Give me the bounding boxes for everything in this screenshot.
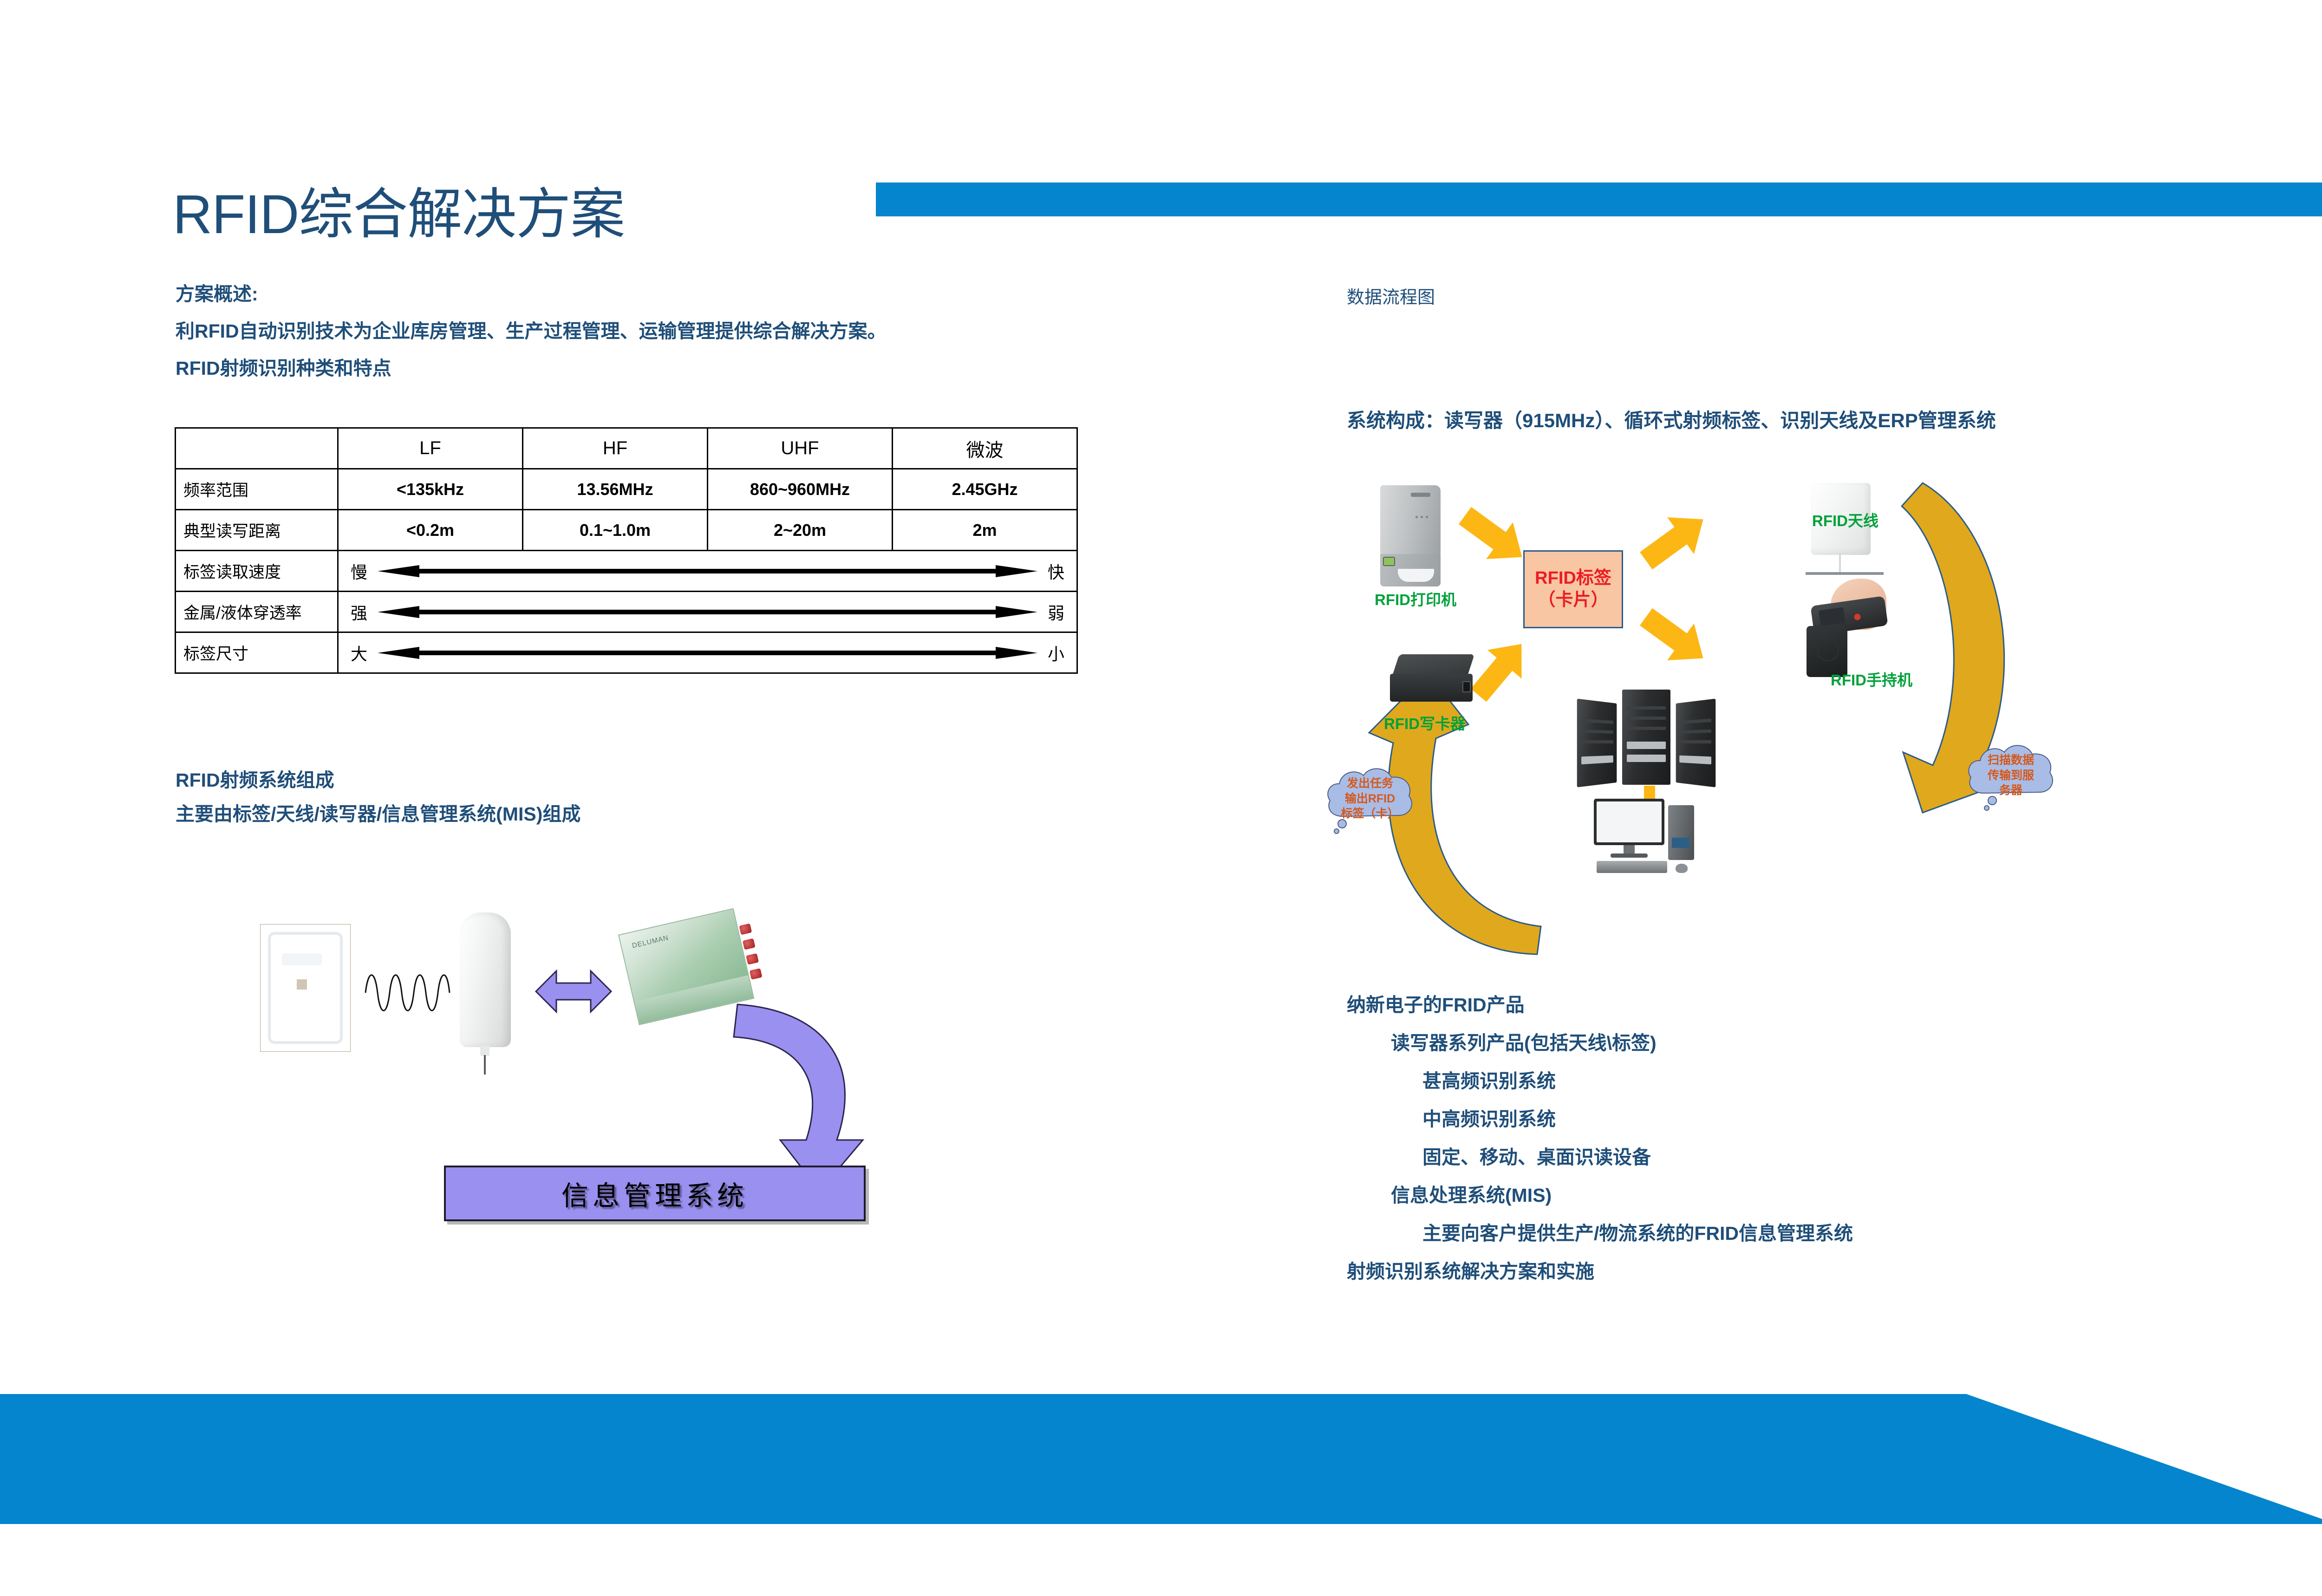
cloud-left-line3: 标签（卡） [1341, 806, 1399, 821]
double-arrow-icon [378, 564, 1037, 578]
table-row: 标签尺寸 大 小 [176, 632, 1077, 673]
row-header-distance: 典型读写距离 [176, 510, 338, 551]
server-rack-image [1577, 685, 1716, 785]
system-architecture-label: 系统构成：读写器（915MHz）、循环式射频标签、识别天线及ERP管理系统 [1347, 409, 1996, 433]
system-composition-heading: RFID射频系统组成 [176, 769, 334, 792]
col-header-blank [176, 428, 338, 469]
printer-media-slot [1411, 493, 1430, 497]
bullet-item: 主要向客户提供生产/物流系统的FRID信息管理系统 [1422, 1218, 1853, 1245]
table-header-row: LF HF UHF 微波 [176, 428, 1077, 469]
col-header-microwave: 微波 [893, 428, 1077, 469]
handheld-antenna-coil [1817, 639, 1839, 661]
reader-brand-text: DELUMAN [631, 934, 669, 950]
header-accent-bar [876, 182, 2322, 216]
cell-frequency-hf: 13.56MHz [523, 469, 708, 510]
col-header-hf: HF [523, 428, 708, 469]
scale-right-label: 弱 [1048, 600, 1064, 624]
antenna-cable [1839, 554, 1841, 573]
antenna-connector [480, 1046, 489, 1056]
overview-body: 利RFID自动识别技术为企业库房管理、生产过程管理、运输管理提供综合解决方案。 [176, 319, 887, 343]
cloud-right-line2: 传输到服 [1988, 768, 2034, 783]
scale-left-label: 强 [351, 600, 367, 624]
slide-canvas: RFID综合解决方案 方案概述: 利RFID自动识别技术为企业库房管理、生产过程… [0, 0, 2322, 1596]
rfid-tag-box: RFID标签 （卡片） [1523, 550, 1623, 628]
bullet-item: 固定、移动、桌面识读设备 [1422, 1141, 1853, 1169]
rfid-tag-box-line2: （卡片） [1538, 589, 1608, 612]
caption-rfid-handheld: RFID手持机 [1831, 668, 1912, 690]
bullet-item: 中高频识别系统 [1422, 1103, 1853, 1131]
scale-left-label: 大 [351, 641, 367, 665]
table-row: 频率范围 <135kHz 13.56MHz 860~960MHz 2.45GHz [176, 469, 1077, 510]
row-header-read-speed: 标签读取速度 [176, 551, 338, 592]
table-row: 金属/液体穿透率 强 弱 [176, 592, 1077, 632]
cloud-left-line2: 输出RFID [1345, 791, 1395, 807]
caption-rfid-card-writer: RFID写卡器 [1384, 711, 1466, 734]
caption-rfid-antenna: RFID天线 [1812, 508, 1878, 531]
monitor [1594, 799, 1664, 845]
cell-distance-hf: 0.1~1.0m [523, 510, 708, 551]
bullet-item: 甚高频识别系统 [1422, 1065, 1853, 1093]
tag-logo [282, 953, 322, 965]
cell-read-speed-scale: 慢 快 [338, 551, 1077, 592]
cell-distance-lf: <0.2m [338, 510, 523, 551]
cloud-right-line1: 扫描数据 [1988, 753, 2034, 768]
col-header-lf: LF [338, 428, 523, 469]
system-composition-detail: 主要由标签/天线/读写器/信息管理系统(MIS)组成 [176, 802, 580, 826]
cloud-callout-left: 发出任务 输出RFID 标签（卡） [1324, 762, 1416, 836]
cloud-left-line1: 发出任务 [1347, 776, 1393, 791]
cell-frequency-mw: 2.45GHz [893, 469, 1077, 510]
footer-accent-band [0, 1394, 2322, 1524]
rf-wave-icon [365, 968, 450, 1017]
printer-body [1380, 485, 1441, 555]
bullet-item: 射频识别系统解决方案和实施 [1347, 1256, 1853, 1283]
double-arrow-icon [378, 605, 1037, 619]
printer-front [1380, 554, 1441, 586]
rfid-tag-box-line1: RFID标签 [1535, 567, 1611, 590]
printer-indicator-lights [1415, 512, 1431, 515]
row-header-frequency: 频率范围 [176, 469, 338, 510]
printer-control-panel [1383, 557, 1395, 566]
tag-chip [297, 979, 307, 990]
rfid-comparison-table: LF HF UHF 微波 频率范围 <135kHz 13.56MHz 860~9… [175, 427, 1078, 674]
cell-distance-mw: 2m [893, 510, 1077, 551]
mouse [1676, 864, 1688, 873]
rfid-printer-image [1371, 485, 1446, 586]
server-center [1622, 690, 1670, 785]
caption-rfid-printer: RFID打印机 [1375, 587, 1456, 610]
rfid-data-flow-diagram: RFID打印机 RFID写卡器 RFID标签 （卡片） RFID天线 [1319, 474, 2136, 966]
row-header-tag-size: 标签尺寸 [176, 632, 338, 673]
bullet-item: 读写器系列产品(包括天线\标签) [1391, 1027, 1853, 1055]
table-row: 标签读取速度 慢 快 [176, 551, 1077, 592]
overview-label: 方案概述: [176, 282, 258, 306]
rfid-card-writer-image [1385, 651, 1478, 707]
table-row: 典型读写距离 <0.2m 0.1~1.0m 2~20m 2m [176, 510, 1077, 551]
cloud-right-line3: 务器 [1999, 783, 2022, 798]
cell-penetration-scale: 强 弱 [338, 592, 1077, 632]
handheld-trigger-button [1854, 613, 1861, 621]
keyboard [1597, 861, 1667, 873]
col-header-uhf: UHF [708, 428, 893, 469]
server-left [1577, 699, 1617, 788]
pc-tower [1668, 805, 1694, 860]
rfid-antenna-photo [460, 912, 511, 1047]
cell-frequency-uhf: 860~960MHz [708, 469, 893, 510]
bullet-item: 信息处理系统(MIS) [1391, 1179, 1853, 1207]
product-bullet-list: 纳新电子的FRID产品 读写器系列产品(包括天线\标签) 甚高频识别系统 中高频… [1347, 989, 1853, 1294]
printer-label-output [1398, 569, 1434, 582]
double-arrow-icon [378, 646, 1037, 660]
bullet-item: 纳新电子的FRID产品 [1347, 989, 1853, 1017]
row-header-penetration: 金属/液体穿透率 [176, 592, 338, 632]
handheld-screen [1819, 607, 1846, 626]
page-title: RFID综合解决方案 [173, 185, 625, 245]
writer-usb-port [1462, 681, 1471, 692]
monitor-stand [1624, 845, 1635, 854]
cell-tag-size-scale: 大 小 [338, 632, 1077, 673]
data-flow-title: 数据流程图 [1347, 287, 1435, 309]
scale-right-label: 小 [1048, 641, 1064, 665]
cell-distance-uhf: 2~20m [708, 510, 893, 551]
bidirectional-arrow-icon [534, 964, 613, 1019]
monitor-base [1611, 853, 1648, 858]
server-right [1676, 699, 1716, 788]
rfid-tag-photo [260, 924, 351, 1052]
cloud-callout-right: 扫描数据 传输到服 务器 [1964, 738, 2057, 813]
cell-frequency-lf: <135kHz [338, 469, 523, 510]
kinds-label: RFID射频识别种类和特点 [176, 357, 391, 380]
desktop-computer-image [1594, 799, 1705, 878]
mis-system-label: 信息管理系统 [561, 1174, 748, 1213]
scale-right-label: 快 [1048, 559, 1064, 583]
writer-body [1390, 674, 1473, 702]
scale-left-label: 慢 [351, 559, 367, 583]
mis-system-box: 信息管理系统 [444, 1166, 866, 1221]
antenna-cable [484, 1055, 486, 1075]
